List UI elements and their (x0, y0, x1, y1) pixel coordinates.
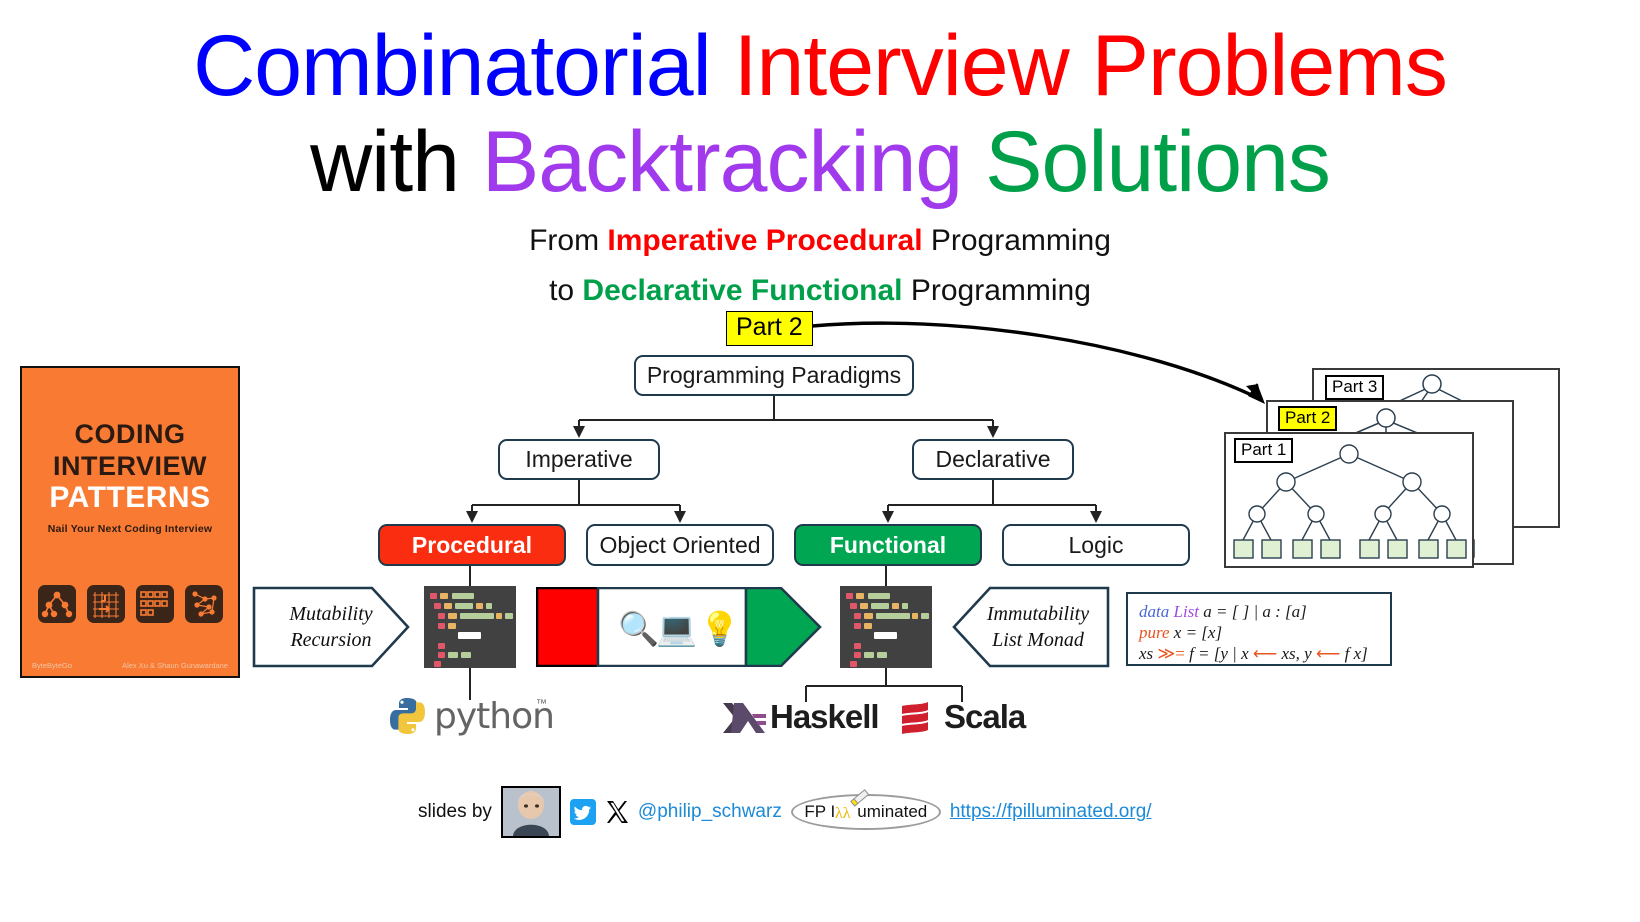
python-code-thumbnail (424, 586, 516, 668)
magnifier-icon: 🔍 (618, 608, 659, 648)
bars-icon (136, 585, 174, 623)
code-kw-pure: pure (1139, 623, 1170, 642)
tree-stack: Part 3 Part 2 (1220, 368, 1560, 568)
scala-logo: Scala (896, 700, 1046, 740)
slides-by-label: slides by (418, 801, 492, 823)
transition-banner: 🔍 💻 💡 (536, 587, 822, 667)
svg-text:λλ: λλ (835, 805, 851, 822)
haskell-code-card: data List a = [ ] | a : [a] pure x = [x]… (1126, 592, 1392, 666)
tree-icon (38, 585, 76, 623)
code-line-3: xs ≫= f = [y | x ⟵ xs, y ⟵ f x] (1139, 643, 1390, 664)
code-line-1: data List a = [ ] | a : [a] (1139, 601, 1390, 622)
node-programming-paradigms[interactable]: Programming Paradigms (634, 355, 914, 396)
code-line3-post: f x] (1340, 644, 1367, 663)
avatar (501, 786, 561, 838)
python-logo: python ™ (386, 694, 556, 742)
highlighter-icon (849, 785, 875, 807)
book-tagline: Nail Your Next Coding Interview (22, 523, 238, 535)
code-kw-list: List (1173, 602, 1199, 621)
scala-icon (896, 700, 936, 738)
person-laptop-icon: 💻 (656, 609, 697, 648)
node-imperative[interactable]: Imperative (498, 439, 660, 480)
chevron-right-line2: List Monad (987, 627, 1089, 653)
book-icon-row (22, 585, 238, 623)
graph-icon (185, 585, 223, 623)
code-arrow-1: ⟵ (1253, 644, 1277, 663)
site-link[interactable]: https://fpilluminated.org/ (950, 801, 1152, 823)
book-authors: Alex Xu & Shaun Gunawardane (122, 661, 228, 670)
book-title: CODING INTERVIEW PATTERNS (22, 418, 238, 514)
chevron-mutability-recursion: Mutability Recursion (252, 586, 410, 668)
node-declarative[interactable]: Declarative (912, 439, 1074, 480)
code-line3-mid: f = [y | x (1185, 644, 1253, 663)
code-line2-rest: x = [x] (1174, 623, 1222, 642)
twitter-handle[interactable]: @philip_schwarz (638, 801, 782, 823)
grid-icon (87, 585, 125, 623)
chevron-left-line1: Mutability (289, 601, 372, 627)
book-title-line3: PATTERNS (22, 482, 238, 514)
x-icon[interactable] (605, 799, 629, 825)
python-icon (386, 694, 430, 738)
slide-canvas: Combinatorial Interview Problems with Ba… (0, 0, 1640, 922)
book-publisher: ByteByteGo (32, 661, 72, 670)
code-line-2: pure x = [x] (1139, 622, 1390, 643)
book-footer: ByteByteGo Alex Xu & Shaun Gunawardane (22, 661, 238, 670)
tag-part3: Part 3 (1325, 375, 1384, 400)
book-title-line1: CODING (22, 418, 238, 450)
chevron-right-line1: Immutability (987, 601, 1089, 627)
node-functional[interactable]: Functional (794, 524, 982, 566)
tag-part2: Part 2 (1278, 406, 1337, 431)
book-cover[interactable]: CODING INTERVIEW PATTERNS Nail Your Next… (20, 366, 240, 678)
twitter-icon[interactable] (570, 799, 596, 825)
chevron-immutability-list-monad: Immutability List Monad (952, 586, 1110, 668)
python-tm: ™ (536, 698, 547, 710)
scala-wordmark: Scala (944, 698, 1025, 736)
haskell-logo: Haskell (722, 700, 892, 740)
code-kw-data: data (1139, 602, 1169, 621)
node-procedural[interactable]: Procedural (378, 524, 566, 566)
code-line1-rest: a = [ ] | a : [a] (1203, 602, 1307, 621)
chevron-left-line2: Recursion (289, 627, 372, 653)
fp-illuminated-logo[interactable]: FP Iλλuminated (791, 794, 941, 830)
fpi-text-pre: FP I (804, 802, 835, 822)
lightbulb-icon: 💡 (699, 609, 740, 648)
code-op-bind: ≫= (1157, 644, 1184, 663)
haskell-wordmark: Haskell (770, 698, 879, 736)
code-line3-pre: xs (1139, 644, 1157, 663)
node-logic[interactable]: Logic (1002, 524, 1190, 566)
tag-part1: Part 1 (1234, 438, 1293, 463)
credit-bar: slides by @philip_schwarz FP Iλλuminated (418, 790, 1152, 834)
haskell-code-thumbnail (840, 586, 932, 668)
haskell-icon (722, 700, 768, 736)
node-object-oriented[interactable]: Object Oriented (586, 524, 774, 566)
code-line3-mid2: xs, y (1277, 644, 1316, 663)
book-title-line2: INTERVIEW (22, 450, 238, 482)
code-arrow-2: ⟵ (1316, 644, 1340, 663)
